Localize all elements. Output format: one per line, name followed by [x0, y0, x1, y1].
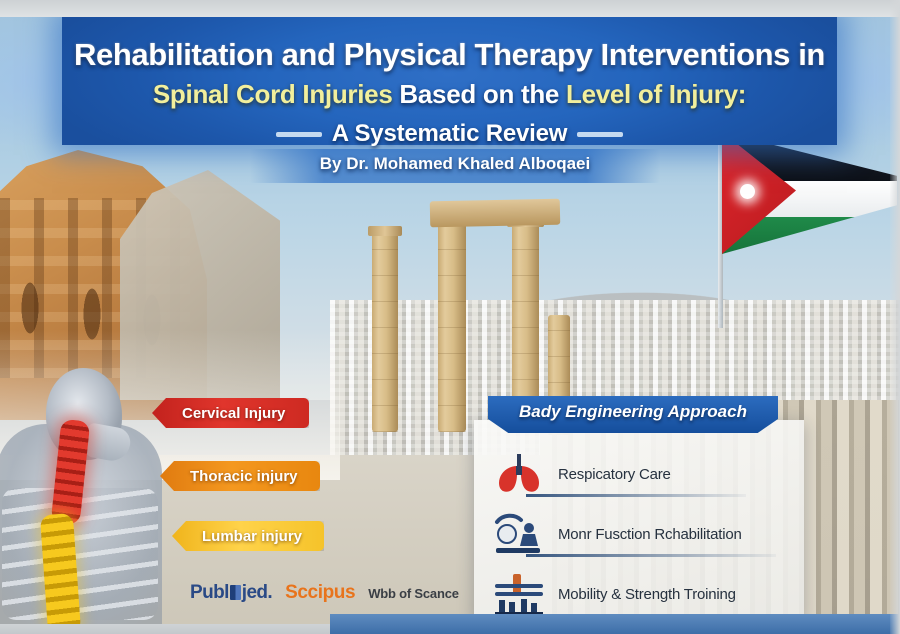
- database-logos-row: Publjed. Sccipus Wbb of Scance: [190, 580, 459, 606]
- flag-star-icon: [740, 184, 755, 199]
- gym-equipment-icon: [488, 569, 550, 619]
- page-title-line-2: Spinal Cord Injuries Based on the Level …: [62, 79, 837, 110]
- injury-level-label: Cervical Injury: [182, 405, 285, 422]
- subtitle-dash-left: [276, 132, 322, 137]
- approach-row-divider: [526, 554, 776, 557]
- pubmed-text-b: jed.: [242, 582, 272, 603]
- title-banner: Rehabilitation and Physical Therapy Inte…: [62, 17, 837, 145]
- approach-row-label: Mobility & Strength Troining: [558, 586, 736, 603]
- title-highlight-spinal-cord: Spinal Cord Injuries: [153, 79, 393, 109]
- injury-level-lumbar[interactable]: Lumbar injury: [172, 521, 324, 551]
- top-border-strip: [0, 0, 900, 17]
- title-line-2-middle: Based on the: [392, 79, 566, 109]
- injury-level-label: Thoracic injury: [190, 468, 298, 485]
- page-title-line-1: Rehabilitation and Physical Therapy Inte…: [62, 37, 837, 73]
- therapy-session-icon: [488, 509, 550, 559]
- lungs-icon: [488, 449, 550, 499]
- approach-row-label: Respicatory Care: [558, 466, 671, 483]
- roman-column-2: [438, 218, 466, 432]
- title-highlight-level-of-injury: Level of Injury:: [566, 79, 746, 109]
- approach-panel-header-text: Bady Engineering Approach: [488, 402, 778, 422]
- author-name: By Dr. Mohamed Khaled Alboqaei: [250, 154, 660, 174]
- spine-anatomy-figure: [0, 368, 169, 634]
- approach-row-respiratory[interactable]: Respicatory Care: [474, 448, 804, 500]
- roman-lintel: [430, 199, 561, 228]
- subtitle-dash-right: [577, 132, 623, 137]
- poster-canvas: Rehabilitation and Physical Therapy Inte…: [0, 0, 900, 634]
- approach-row-divider: [526, 494, 746, 497]
- injury-level-thoracic[interactable]: Thoracic injury: [160, 461, 320, 491]
- approach-row-label: Monr Fusction Rchabilitation: [558, 526, 742, 543]
- injury-level-label: Lumbar injury: [202, 528, 302, 545]
- web-of-science-logo[interactable]: Wbb of Scance: [368, 586, 459, 601]
- bottom-blue-bar: [330, 614, 900, 634]
- book-icon: [230, 585, 241, 600]
- roman-column-capital-1: [368, 226, 402, 236]
- approach-panel: Respicatory Care Monr Fusction Rchabilit…: [474, 420, 804, 620]
- pubmed-text-a: Publ: [190, 582, 229, 603]
- scopus-logo[interactable]: Sccipus: [285, 582, 355, 604]
- page-subtitle: A Systematic Review: [332, 120, 567, 148]
- approach-row-mobility[interactable]: Mobility & Strength Troining: [474, 568, 804, 620]
- right-border-strip: [890, 0, 900, 634]
- injury-level-cervical[interactable]: Cervical Injury: [152, 398, 309, 428]
- pubmed-logo[interactable]: Publjed.: [190, 582, 272, 604]
- subtitle-row: A Systematic Review: [62, 120, 837, 148]
- bottom-left-bar: [0, 624, 330, 634]
- roman-column-1: [372, 232, 398, 432]
- approach-row-motor-function[interactable]: Monr Fusction Rchabilitation: [474, 508, 804, 560]
